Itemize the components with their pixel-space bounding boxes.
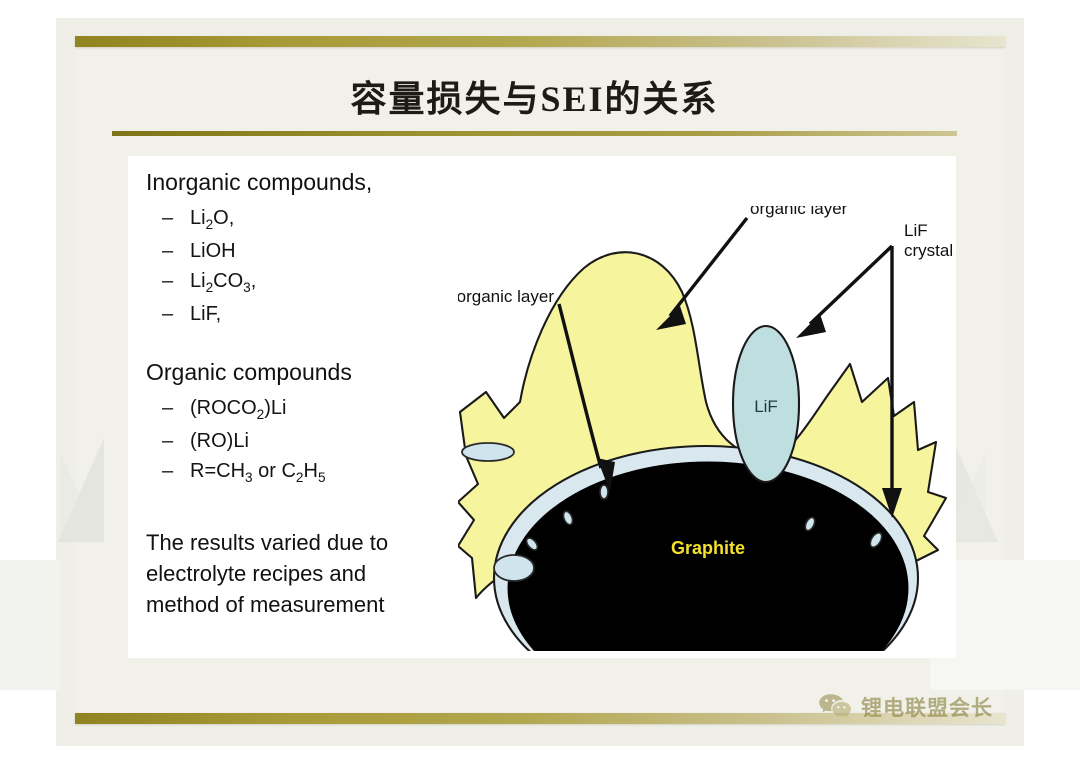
subscript: 2 bbox=[296, 470, 304, 485]
lif-crystals-label-line2: crystals bbox=[904, 241, 954, 260]
section-spacer bbox=[146, 489, 476, 527]
lif-blob-label: LiF bbox=[754, 397, 778, 416]
list-item: –LiOH bbox=[146, 236, 476, 266]
list-item: –(RO)Li bbox=[146, 426, 476, 456]
title-underline-rule bbox=[112, 131, 957, 136]
list-item: –Li2O, bbox=[146, 203, 476, 236]
slide-canvas: 容量损失与SEI的关系 Inorganic compounds, –Li2O, … bbox=[0, 0, 1080, 763]
text-column: Inorganic compounds, –Li2O, –LiOH –Li2CO… bbox=[146, 168, 476, 620]
organic-heading: Organic compounds bbox=[146, 358, 476, 387]
graphite-label: Graphite bbox=[671, 538, 745, 558]
inorganic-list: –Li2O, –LiOH –Li2CO3, –LiF, bbox=[146, 203, 476, 329]
bullet-dash: – bbox=[162, 299, 173, 329]
list-item: –R=CH3 or C2H5 bbox=[146, 456, 476, 489]
content-panel: Inorganic compounds, –Li2O, –LiOH –Li2CO… bbox=[128, 156, 956, 658]
crystal-particle bbox=[600, 485, 608, 499]
subscript: 3 bbox=[243, 280, 251, 295]
organic-list: –(ROCO2)Li –(RO)Li –R=CH3 or C2H5 bbox=[146, 393, 476, 489]
lif-crystals-label-line1: LiF bbox=[904, 221, 928, 240]
wechat-icon bbox=[818, 693, 852, 722]
inorganic-layer-label: Inorganic layer bbox=[458, 287, 554, 306]
bullet-dash: – bbox=[162, 236, 173, 266]
decorative-block-left bbox=[0, 560, 60, 690]
crystal-particle bbox=[494, 555, 534, 581]
section-spacer bbox=[146, 330, 476, 358]
page-title: 容量损失与SEI的关系 bbox=[112, 70, 957, 122]
closing-paragraph: The results varied due to electrolyte re… bbox=[146, 527, 476, 621]
bullet-dash: – bbox=[162, 393, 173, 423]
subscript: 2 bbox=[206, 217, 214, 232]
decorative-triangle-left-secondary bbox=[60, 452, 100, 540]
bullet-dash: – bbox=[162, 203, 173, 233]
list-item: –(ROCO2)Li bbox=[146, 393, 476, 426]
subscript: 2 bbox=[206, 280, 214, 295]
subscript: 3 bbox=[245, 470, 253, 485]
inorganic-heading: Inorganic compounds, bbox=[146, 168, 476, 197]
list-item: –Li2CO3, bbox=[146, 266, 476, 299]
list-item: –LiF, bbox=[146, 299, 476, 329]
crystal-particle bbox=[462, 443, 514, 461]
sei-structure-diagram: LiF Graphite Inorganic layer Porous orga… bbox=[458, 206, 954, 651]
bullet-dash: – bbox=[162, 426, 173, 456]
subscript: 2 bbox=[257, 407, 265, 422]
subscript: 5 bbox=[318, 470, 326, 485]
top-gold-bar bbox=[75, 36, 1005, 47]
bullet-dash: – bbox=[162, 266, 173, 296]
watermark: 锂电联盟会长 bbox=[818, 692, 993, 722]
bullet-dash: – bbox=[162, 456, 173, 486]
porous-organic-label-line2: organic layer bbox=[750, 206, 848, 218]
watermark-label: 锂电联盟会长 bbox=[861, 692, 993, 722]
